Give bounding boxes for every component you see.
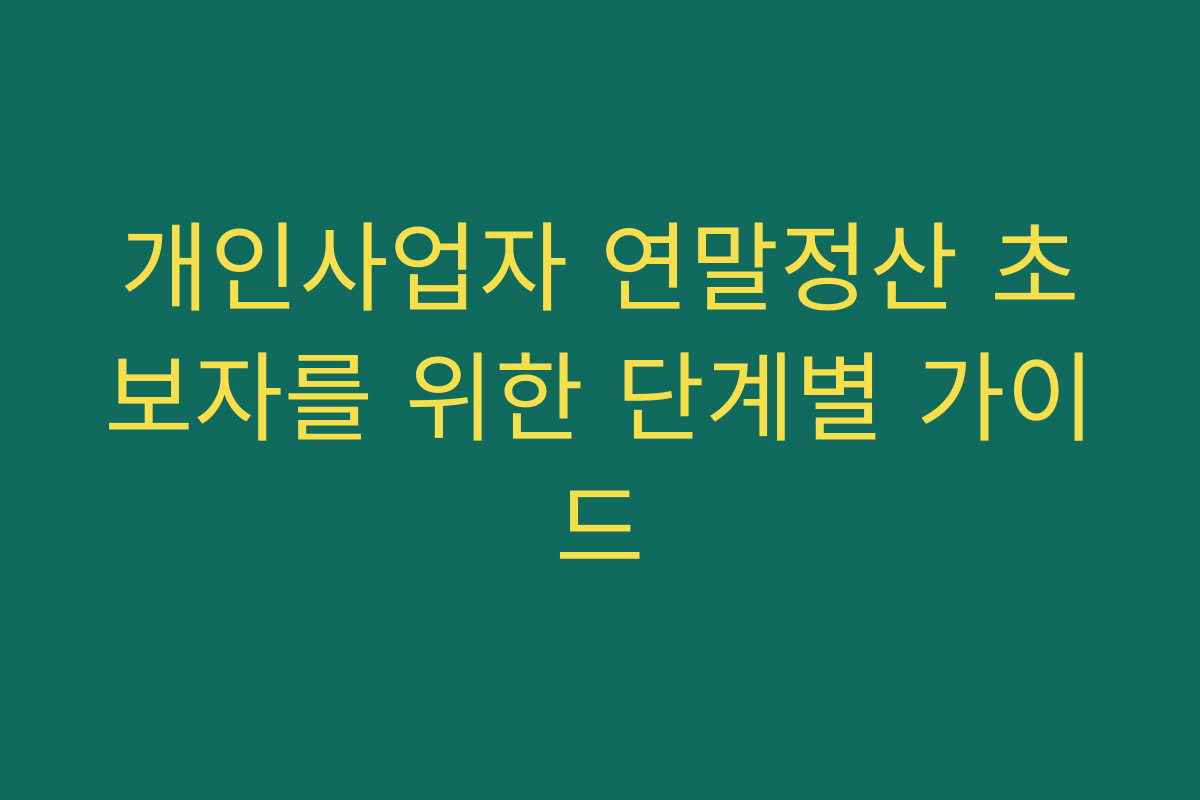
- title-line-1: 개인사업자 연말정산 초: [80, 205, 1120, 335]
- title-line-3: 드: [80, 465, 1120, 595]
- title-card: 개인사업자 연말정산 초 보자를 위한 단계별 가이 드: [0, 0, 1200, 800]
- page-title: 개인사업자 연말정산 초 보자를 위한 단계별 가이 드: [80, 205, 1120, 595]
- title-line-2: 보자를 위한 단계별 가이: [80, 335, 1120, 465]
